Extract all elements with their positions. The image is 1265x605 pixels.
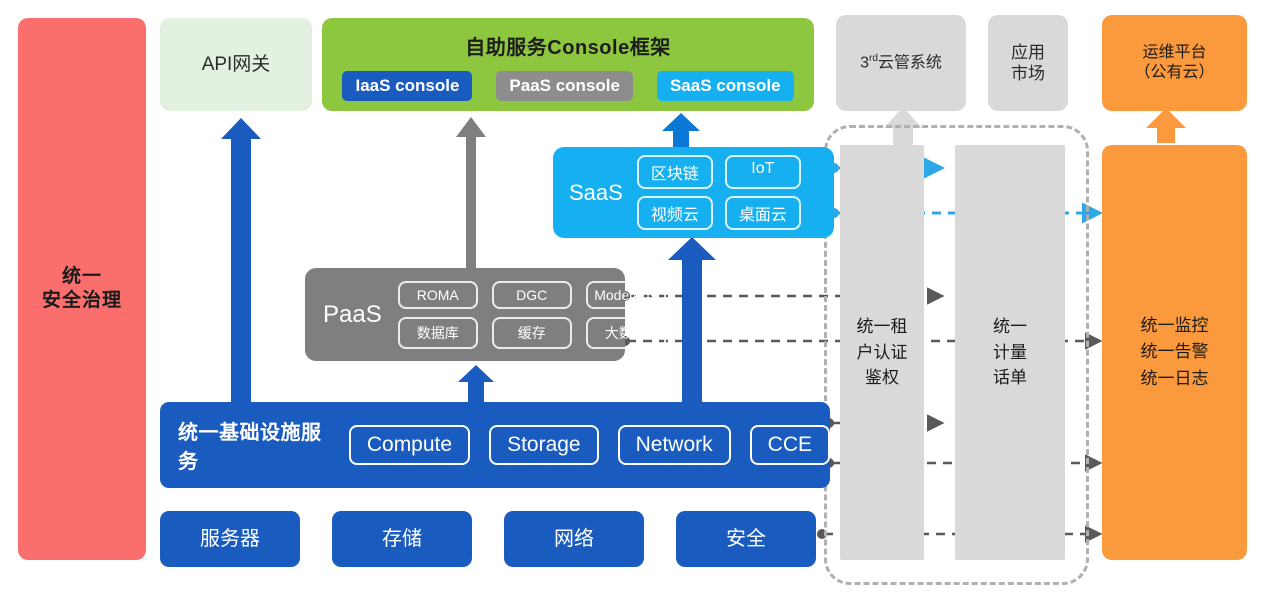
- hardware-card-storage[interactable]: 存储: [332, 511, 472, 567]
- iaas-item-network[interactable]: Network: [618, 425, 731, 465]
- hardware-label-storage: 存储: [382, 527, 422, 552]
- paas-console-chip[interactable]: PaaS console: [496, 71, 633, 101]
- hardware-card-network[interactable]: 网络: [504, 511, 644, 567]
- saas-item-desktop-cloud[interactable]: 桌面云: [725, 196, 801, 230]
- paas-item-roma[interactable]: ROMA: [398, 281, 478, 309]
- unified-infrastructure-bar[interactable]: 统一基础设施服务 Compute Storage Network CCE: [160, 402, 830, 488]
- saas-block[interactable]: SaaS 区块链 IoT 视频云 桌面云: [553, 147, 834, 238]
- iaas-to-apigw-arrow: [221, 118, 261, 410]
- ops-panel-line-1: 统一监控: [1141, 313, 1209, 339]
- paas-item-modelarts[interactable]: ModelArts: [586, 281, 666, 309]
- paas-item-database[interactable]: 数据库: [398, 317, 478, 349]
- saas-item-blockchain[interactable]: 区块链: [637, 155, 713, 189]
- console-framework-card[interactable]: 自助服务Console框架 IaaS console PaaS console …: [322, 18, 814, 111]
- api-gateway-label: API网关: [202, 53, 271, 77]
- paas-item-cache[interactable]: 缓存: [492, 317, 572, 349]
- governance-line-2: 安全治理: [42, 289, 122, 313]
- unified-tenant-auth-column[interactable]: 统一租 户认证 鉴权: [840, 145, 924, 560]
- ops-platform-card[interactable]: 运维平台 （公有云）: [1102, 15, 1247, 111]
- saas-item-video-cloud[interactable]: 视频云: [637, 196, 713, 230]
- iaas-label: 统一基础设施服务: [178, 416, 330, 474]
- unified-metering-column[interactable]: 统一 计量 话单: [955, 145, 1065, 560]
- ops-platform-line-1: 运维平台: [1142, 43, 1206, 63]
- paas-to-console-arrow: [456, 117, 486, 268]
- iaas-console-chip[interactable]: IaaS console: [342, 71, 472, 101]
- saas-to-console-arrow: [662, 113, 700, 148]
- iaas-to-saas-arrow: [668, 237, 716, 406]
- app-market-card[interactable]: 应用 市场: [988, 15, 1068, 111]
- paas-label: PaaS: [323, 301, 382, 329]
- hardware-card-server[interactable]: 服务器: [160, 511, 300, 567]
- governance-line-1: 统一: [62, 265, 102, 289]
- architecture-diagram: 统一 安全治理 API网关 自助服务Console框架 IaaS console…: [0, 0, 1265, 605]
- saas-item-iot[interactable]: IoT: [725, 155, 801, 189]
- hardware-label-network: 网络: [554, 527, 594, 552]
- paas-item-bigdata[interactable]: 大数据: [586, 317, 666, 349]
- iaas-item-cce[interactable]: CCE: [750, 425, 830, 465]
- ops-panel-line-3: 统一日志: [1141, 366, 1209, 392]
- unified-security-governance-panel[interactable]: 统一 安全治理: [18, 18, 146, 560]
- paas-item-dgc[interactable]: DGC: [492, 281, 572, 309]
- iaas-item-compute[interactable]: Compute: [349, 425, 470, 465]
- hardware-card-security[interactable]: 安全: [676, 511, 816, 567]
- console-framework-title: 自助服务Console框架: [465, 31, 670, 60]
- ops-panel-line-2: 统一告警: [1141, 339, 1209, 365]
- api-gateway-card[interactable]: API网关: [160, 18, 312, 111]
- saas-console-chip[interactable]: SaaS console: [657, 71, 794, 101]
- metering-column-text: 统一 计量 话单: [993, 314, 1027, 391]
- saas-label: SaaS: [569, 180, 623, 206]
- app-market-line-1: 应用: [1011, 42, 1045, 63]
- app-market-line-2: 市场: [1011, 63, 1045, 84]
- hardware-label-security: 安全: [726, 527, 766, 552]
- console-chip-row: IaaS console PaaS console SaaS console: [342, 71, 793, 101]
- third-party-cloud-mgmt-card[interactable]: 3rd云管系统: [836, 15, 966, 111]
- ops-panel-to-platform-arrow: [1146, 108, 1186, 143]
- paas-service-grid: ROMA DGC ModelArts 数据库 缓存 大数据: [398, 281, 666, 349]
- ops-monitoring-panel[interactable]: 统一监控 统一告警 统一日志: [1102, 145, 1247, 560]
- third-party-label: 3rd云管系统: [860, 53, 942, 73]
- ops-platform-line-2: （公有云）: [1134, 63, 1214, 83]
- paas-block[interactable]: PaaS ROMA DGC ModelArts 数据库 缓存 大数据: [305, 268, 625, 361]
- saas-service-grid: 区块链 IoT 视频云 桌面云: [637, 155, 801, 230]
- iaas-item-storage[interactable]: Storage: [489, 425, 599, 465]
- iaas-to-paas-arrow: [458, 365, 494, 406]
- hardware-label-server: 服务器: [200, 527, 260, 552]
- auth-column-text: 统一租 户认证 鉴权: [857, 314, 908, 391]
